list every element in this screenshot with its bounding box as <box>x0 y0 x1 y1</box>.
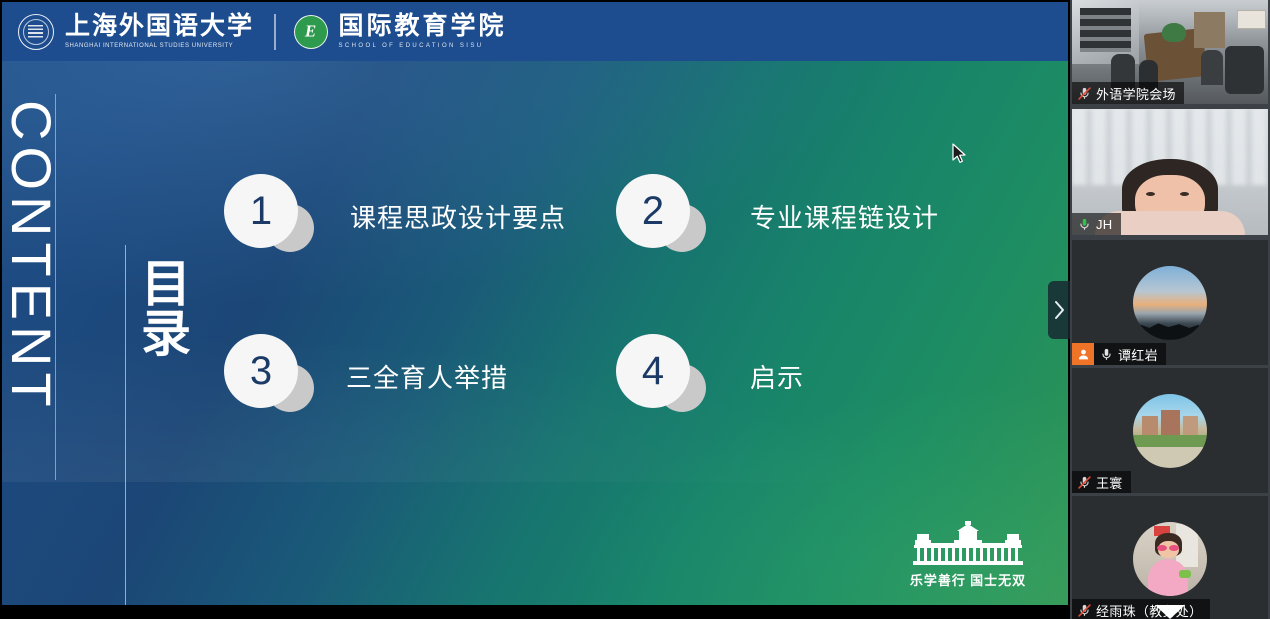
university-name-cn: 上海外国语大学 <box>65 14 254 39</box>
participant-name: 谭红岩 <box>1118 345 1158 364</box>
title-rule-inner <box>125 245 126 605</box>
participant-namebar: 谭红岩 <box>1072 343 1166 365</box>
mic-on-icon <box>1094 347 1118 362</box>
university-building-icon <box>913 521 1023 567</box>
university-logo-text: 上海外国语大学 SHANGHAI INTERNATIONAL STUDIES U… <box>65 14 254 49</box>
agenda-number-4: 4 <box>616 334 690 408</box>
host-person-icon <box>1072 343 1094 365</box>
agenda-item-2: 2 专业课程链设计 <box>616 174 939 258</box>
participant-tile[interactable]: JH <box>1072 109 1268 235</box>
avatar <box>1133 394 1207 468</box>
school-name-en: SCHOOL OF EDUCATION SISU <box>339 43 507 49</box>
agenda-label-3: 三全育人举措 <box>346 358 508 395</box>
school-name-cn: 国际教育学院 <box>339 14 507 39</box>
shared-screen-area: 上海外国语大学 SHANGHAI INTERNATIONAL STUDIES U… <box>0 0 1070 619</box>
participant-namebar: 王寰 <box>1072 471 1131 493</box>
mic-active-icon <box>1072 217 1096 232</box>
caret-down-icon[interactable] <box>1155 605 1185 619</box>
university-name-en: SHANGHAI INTERNATIONAL STUDIES UNIVERSIT… <box>65 43 254 49</box>
participant-name: JH <box>1096 217 1113 232</box>
agenda-badge-3: 3 <box>224 334 316 418</box>
participant-name: 经雨珠（教务处） <box>1096 601 1202 619</box>
mic-muted-icon <box>1072 475 1096 490</box>
participant-name: 外语学院会场 <box>1096 84 1176 103</box>
agenda-number-1: 1 <box>224 174 298 248</box>
participant-namebar: 经雨珠（教务处） <box>1072 599 1210 619</box>
mic-muted-icon <box>1072 603 1096 618</box>
school-emblem-icon <box>294 15 328 49</box>
agenda-item-1: 1 课程思政设计要点 <box>224 174 566 258</box>
university-seal-icon <box>18 14 54 50</box>
chevron-right-icon <box>1054 301 1065 319</box>
vertical-divider-icon <box>274 14 276 50</box>
footer-motto: 乐学善行 国士无双 <box>888 570 1048 589</box>
agenda-label-4: 启示 <box>750 358 804 395</box>
participant-tile[interactable]: 王寰 <box>1072 368 1268 493</box>
school-logo-text: 国际教育学院 SCHOOL OF EDUCATION SISU <box>339 14 507 49</box>
participant-tile[interactable]: 经雨珠（教务处） <box>1072 496 1268 619</box>
agenda-number-2: 2 <box>616 174 690 248</box>
agenda-badge-4: 4 <box>616 334 708 418</box>
avatar <box>1133 522 1207 596</box>
participant-video-strip[interactable]: 外语学院会场 <box>1070 0 1270 619</box>
panel-collapse-toggle[interactable] <box>1048 281 1070 339</box>
agenda-badge-2: 2 <box>616 174 708 258</box>
slide-title-cn: 目录 <box>133 257 189 357</box>
mic-muted-icon <box>1072 86 1096 101</box>
slide-footer-emblem: 乐学善行 国士无双 <box>888 521 1048 589</box>
agenda-number-3: 3 <box>224 334 298 408</box>
slide-title-en: CONTENT <box>3 100 59 430</box>
agenda-badge-1: 1 <box>224 174 316 258</box>
slide-header-band: 上海外国语大学 SHANGHAI INTERNATIONAL STUDIES U… <box>2 2 1068 61</box>
avatar <box>1133 266 1207 340</box>
agenda-item-4: 4 启示 <box>616 334 804 418</box>
participant-namebar: JH <box>1072 213 1121 235</box>
participant-tile[interactable]: 外语学院会场 <box>1072 0 1268 104</box>
screen-share-meeting-window: 上海外国语大学 SHANGHAI INTERNATIONAL STUDIES U… <box>0 0 1270 619</box>
agenda-item-3: 3 三全育人举措 <box>224 334 508 418</box>
presentation-slide: 上海外国语大学 SHANGHAI INTERNATIONAL STUDIES U… <box>2 2 1068 605</box>
participant-namebar: 外语学院会场 <box>1072 82 1184 104</box>
participant-tile[interactable]: 谭红岩 <box>1072 240 1268 365</box>
agenda-label-2: 专业课程链设计 <box>750 198 939 235</box>
agenda-label-1: 课程思政设计要点 <box>350 198 566 235</box>
participant-name: 王寰 <box>1096 473 1123 492</box>
